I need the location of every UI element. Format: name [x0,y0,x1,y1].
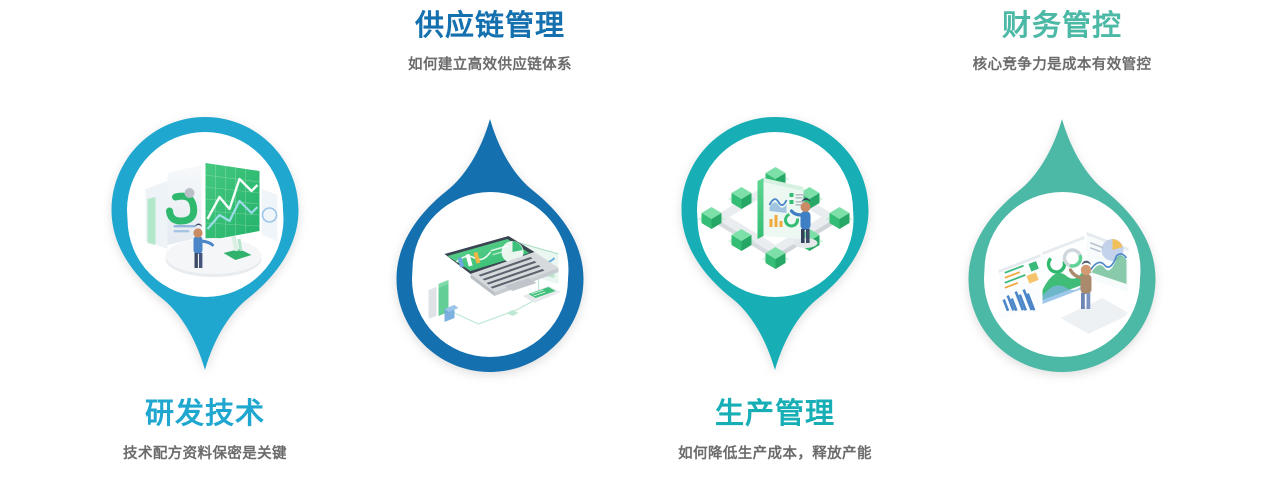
map-pin-financial-control[interactable] [955,112,1170,377]
map-pin-rd-technology[interactable] [98,112,313,377]
feature-card-financial-control[interactable]: 财务管控 核心竞争力是成本有效管控 [912,0,1212,488]
card-title: 研发技术 [55,396,355,432]
card-subtitle: 如何建立高效供应链体系 [340,56,640,75]
map-pin-production-management[interactable] [668,112,883,377]
map-pin-supply-chain-management[interactable] [383,112,598,377]
card-title: 供应链管理 [340,8,640,44]
card-title: 财务管控 [912,8,1212,44]
feature-card-supply-chain-management[interactable]: 供应链管理 如何建立高效供应链体系 [340,0,640,488]
feature-card-rd-technology[interactable]: 研发技术 技术配方资料保密是关键 [55,0,355,488]
card-subtitle: 技术配方资料保密是关键 [55,445,355,464]
text-block-supply-chain-management: 供应链管理 如何建立高效供应链体系 [340,8,640,75]
card-subtitle: 如何降低生产成本，释放产能 [625,445,925,464]
text-block-financial-control: 财务管控 核心竞争力是成本有效管控 [912,8,1212,75]
feature-pins-board: 研发技术 技术配方资料保密是关键 供应链管理 如何建立高效供应链体系 [0,0,1263,488]
finance-dashboard-illustration [984,192,1140,348]
laptop-dashboard-illustration [412,192,568,348]
rd-lab-illustration [127,141,283,297]
card-subtitle: 核心竞争力是成本有效管控 [912,56,1212,75]
card-title: 生产管理 [625,396,925,432]
feature-card-production-management[interactable]: 生产管理 如何降低生产成本，释放产能 [625,0,925,488]
text-block-production-management: 生产管理 如何降低生产成本，释放产能 [625,396,925,464]
isometric-factory-network-illustration [697,141,853,297]
text-block-rd-technology: 研发技术 技术配方资料保密是关键 [55,396,355,464]
